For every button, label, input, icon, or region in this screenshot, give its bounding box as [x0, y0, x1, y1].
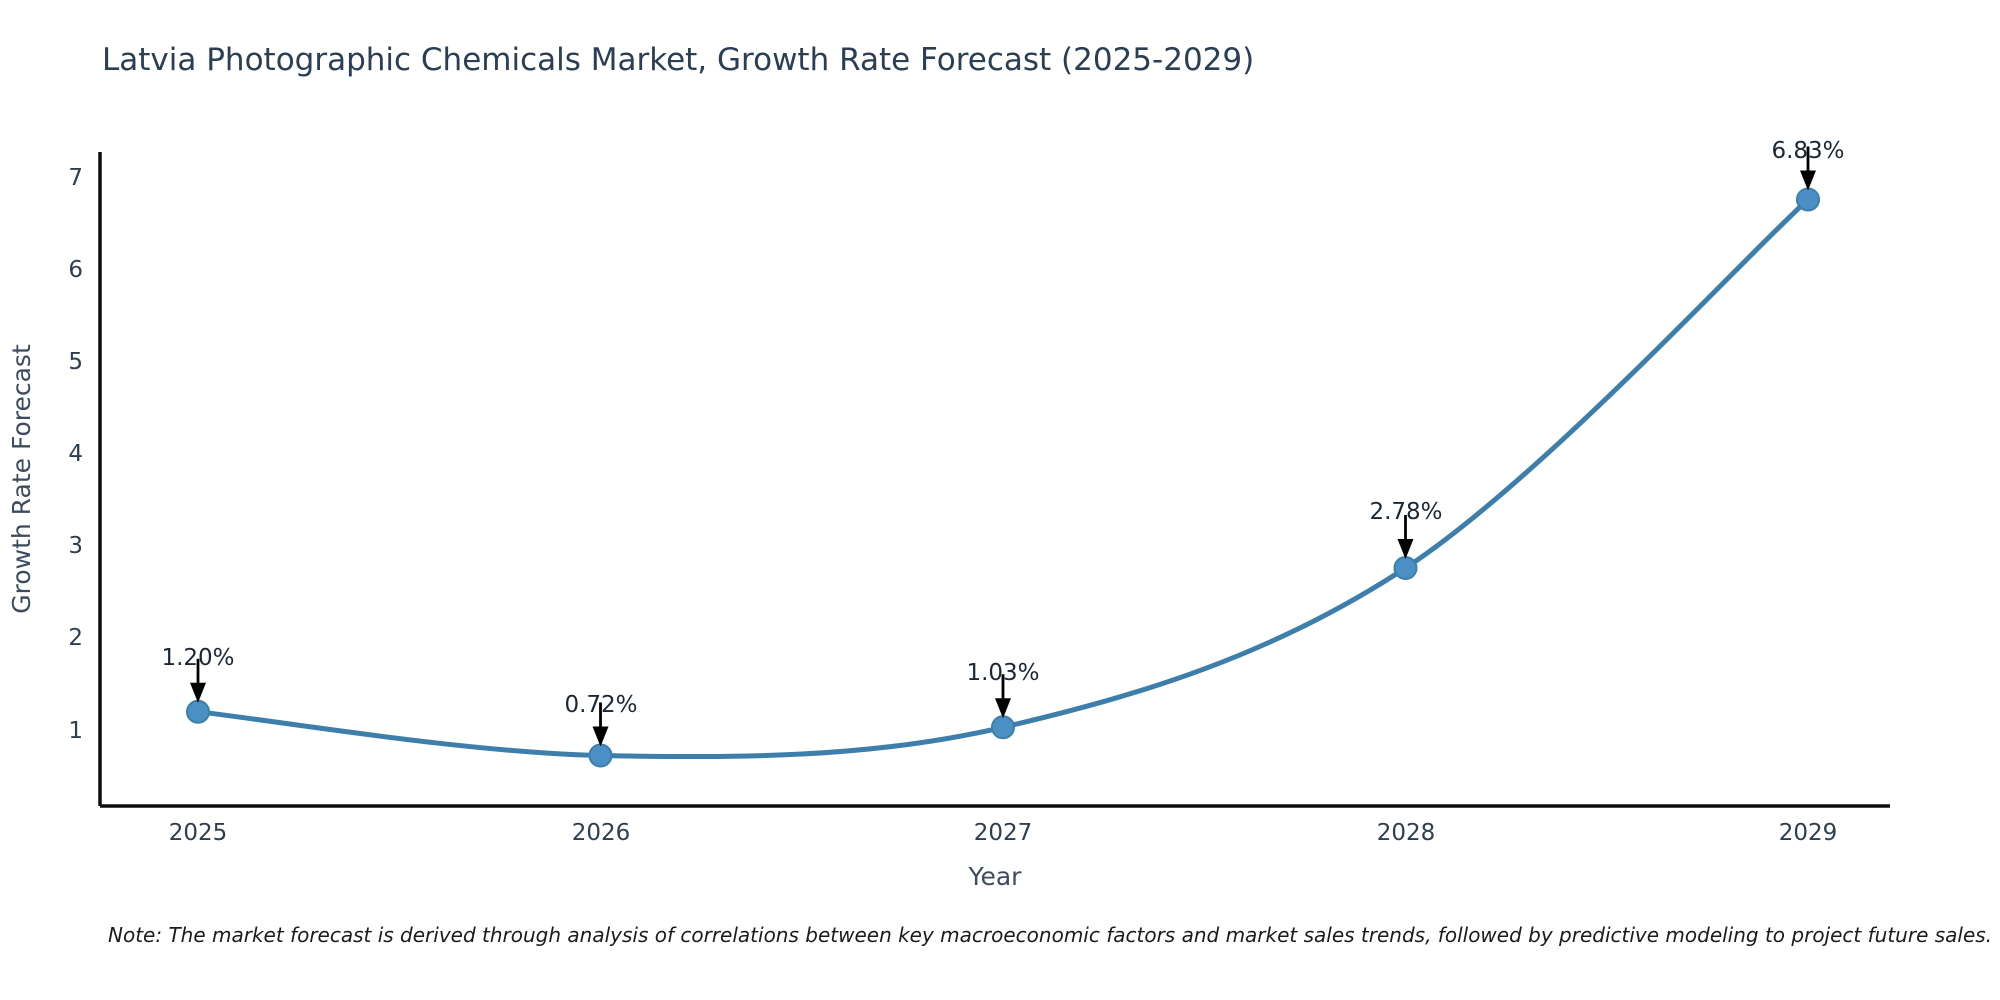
data-point-marker — [992, 716, 1014, 738]
x-tick-label: 2025 — [169, 820, 228, 846]
point-label-2027: 1.03% — [966, 660, 1039, 686]
y-tick-label: 6 — [68, 257, 83, 283]
y-tick-label: 7 — [68, 165, 83, 191]
x-tick-label: 2029 — [1779, 820, 1838, 846]
chart-footnote: Note: The market forecast is derived thr… — [108, 923, 1992, 947]
y-tick-label: 4 — [68, 441, 83, 467]
x-axis-title: Year — [968, 862, 1023, 891]
point-label-2029: 6.83% — [1771, 138, 1844, 164]
data-point-marker — [1395, 557, 1417, 579]
x-tick-label: 2027 — [974, 820, 1033, 846]
x-tick-label: 2028 — [1377, 820, 1436, 846]
chart-container: Latvia Photographic Chemicals Market, Gr… — [0, 0, 2000, 1000]
data-point-marker — [187, 701, 209, 723]
x-tick-label: 2026 — [572, 820, 631, 846]
chart-background — [0, 0, 2000, 1000]
y-tick-label: 5 — [68, 349, 83, 375]
point-label-2028: 2.78% — [1369, 499, 1442, 525]
growth-rate-forecast-line-chart: Latvia Photographic Chemicals Market, Gr… — [0, 0, 2000, 1000]
point-label-2025: 1.20% — [161, 645, 234, 671]
chart-title: Latvia Photographic Chemicals Market, Gr… — [102, 42, 1254, 78]
data-point-marker — [590, 744, 612, 766]
y-tick-label: 3 — [68, 533, 83, 559]
data-point-marker — [1797, 188, 1819, 210]
y-tick-label: 1 — [68, 718, 83, 744]
y-axis-title: Growth Rate Forecast — [7, 344, 36, 614]
y-tick-label: 2 — [68, 625, 83, 651]
point-label-2026: 0.72% — [564, 692, 637, 718]
